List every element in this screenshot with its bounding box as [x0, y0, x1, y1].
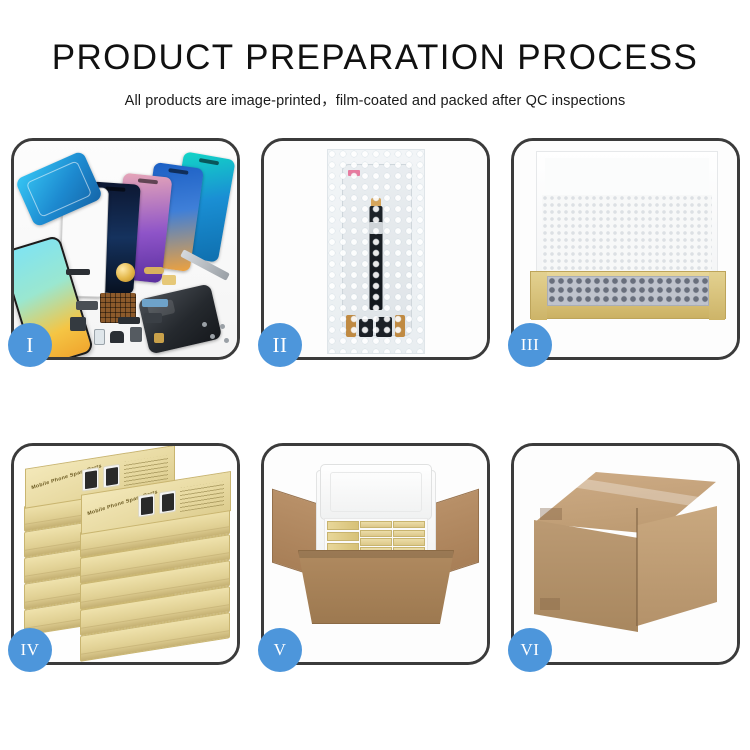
- step-panel-1: I: [11, 138, 240, 360]
- spare-part-icon: [144, 313, 162, 323]
- box-thumbnail-icon: [103, 464, 120, 489]
- step-4-image: Mobile Phone Spare Parts Mobile Pho: [14, 446, 237, 662]
- step-badge-1: I: [8, 323, 52, 367]
- step-badge-5: V: [258, 628, 302, 672]
- kraft-tray-icon: [530, 271, 726, 319]
- step-badge-2: II: [258, 323, 302, 367]
- spare-part-icon: [66, 269, 90, 275]
- phones-and-parts-scene: [14, 141, 237, 357]
- page-title: PRODUCT PREPARATION PROCESS: [0, 38, 750, 78]
- page-subtitle: All products are image-printed，film-coat…: [0, 89, 750, 110]
- box-thumbnail-icon: [82, 467, 99, 492]
- spare-part-icon: [142, 299, 168, 307]
- step-badge-4: IV: [8, 628, 52, 672]
- screw-icon: [210, 334, 215, 339]
- tape-patch-icon: [540, 508, 562, 520]
- step-badge-3: III: [508, 323, 552, 367]
- spare-part-icon: [94, 329, 105, 345]
- step-panel-6: VI: [511, 443, 740, 665]
- carton-edge-seam: [636, 508, 638, 626]
- spare-part-icon: [110, 331, 124, 343]
- box-thumbnail-icon: [138, 493, 155, 518]
- spare-part-icon: [162, 275, 176, 285]
- bubble-padding-icon: [547, 276, 709, 306]
- step-panel-3: III: [511, 138, 740, 360]
- tray-flap-right: [709, 272, 725, 320]
- retail-box-stack: Mobile Phone Spare Parts Mobile Pho: [20, 464, 236, 654]
- screw-icon: [202, 322, 207, 327]
- bubble-wrap-bag-icon: [327, 149, 425, 354]
- carton-side-face: [637, 506, 717, 626]
- carton-front-face: [534, 520, 638, 632]
- speaker-mesh-icon: [116, 263, 135, 282]
- step-panel-2: II: [261, 138, 490, 360]
- step-panel-5: V: [261, 443, 490, 665]
- spare-part-icon: [154, 333, 164, 343]
- product-preparation-infographic: PRODUCT PREPARATION PROCESS All products…: [0, 0, 750, 750]
- tray-flap-left: [531, 272, 547, 320]
- step-panel-4: Mobile Phone Spare Parts Mobile Pho: [11, 443, 240, 665]
- foam-sheet-icon: [542, 195, 712, 273]
- bubble-texture: [328, 150, 424, 353]
- spare-part-icon: [144, 267, 164, 274]
- spare-part-icon: [70, 317, 86, 331]
- spare-part-icon: [130, 327, 142, 342]
- box-spec-lines: [180, 481, 224, 512]
- step-3-image: [514, 141, 737, 357]
- screw-icon: [220, 324, 225, 329]
- step-6-image: [514, 446, 737, 662]
- process-steps-grid: I II: [11, 138, 739, 683]
- spare-part-icon: [118, 317, 140, 324]
- step-1-image: [14, 141, 237, 357]
- spare-part-icon: [76, 301, 98, 310]
- step-2-image: [264, 141, 487, 357]
- header: PRODUCT PREPARATION PROCESS All products…: [0, 0, 750, 110]
- box-thumbnail-icon: [159, 490, 176, 515]
- tape-patch-icon: [540, 598, 560, 610]
- shipping-carton-open-icon: [298, 550, 454, 624]
- foam-cooler-lid-icon: [320, 464, 432, 520]
- step-5-image: [264, 446, 487, 662]
- step-badge-6: VI: [508, 628, 552, 672]
- screw-icon: [224, 338, 229, 343]
